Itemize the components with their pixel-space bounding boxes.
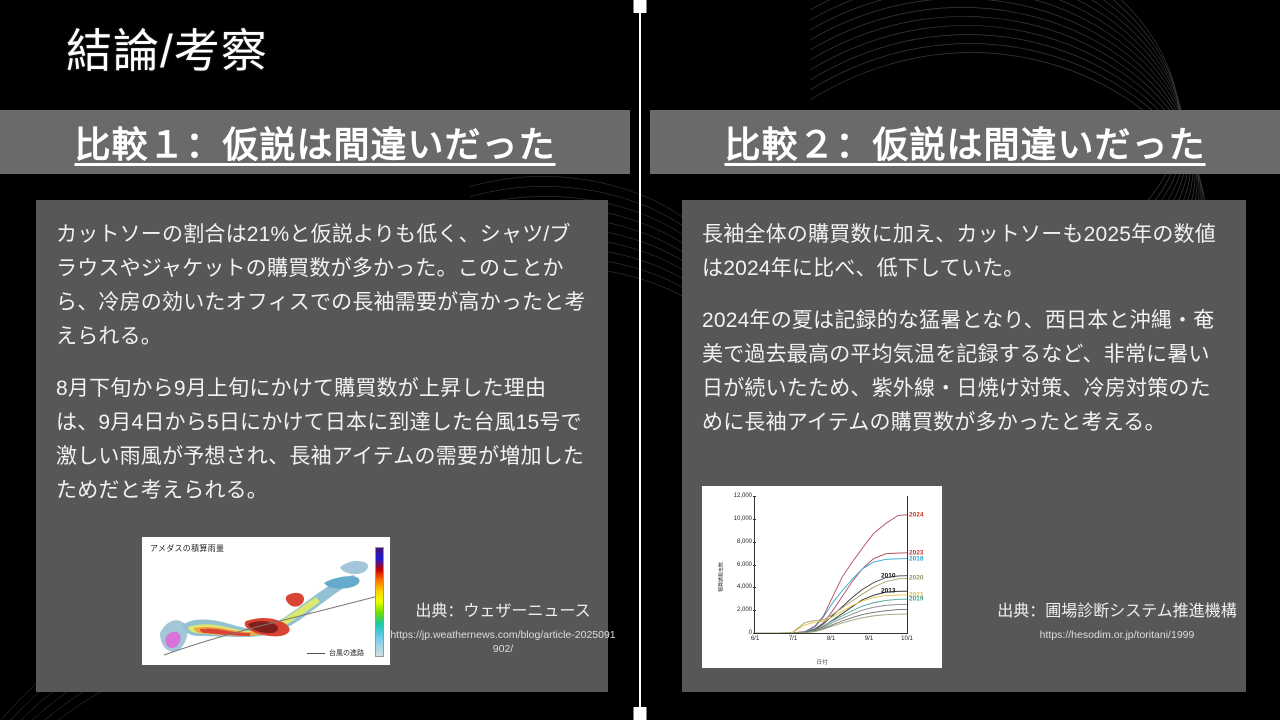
divider-handle-bottom[interactable] bbox=[634, 707, 647, 720]
typhoon-track-line-icon bbox=[307, 653, 325, 654]
left-source-caption: 出典：ウェザーニュース https://jp.weathernews.com/b… bbox=[390, 602, 616, 657]
right-paragraph-1: 長袖全体の購買数に加え、カットソーも2025年の数値は2024年に比べ、低下して… bbox=[702, 218, 1226, 286]
rainfall-map-title: アメダスの積算雨量 bbox=[150, 543, 224, 554]
chart-y-tick: 12,000 bbox=[734, 493, 752, 499]
chart-x-tick: 7/1 bbox=[789, 636, 797, 642]
chart-x-tick: 8/1 bbox=[827, 636, 835, 642]
left-source-url[interactable]: https://jp.weathernews.com/blog/article-… bbox=[390, 628, 616, 657]
right-body-text: 長袖全体の購買数に加え、カットソーも2025年の数値は2024年に比べ、低下して… bbox=[682, 200, 1246, 440]
line-chart: 積算誘殺虫数 日付 02,0004,0006,0008,00010,00012,… bbox=[702, 486, 942, 668]
left-paragraph-2: 8月下旬から9月上旬にかけて購買数が上昇した理由は、9月4日から5日にかけて日本… bbox=[56, 372, 588, 508]
chart-series-label-2024: 2024 bbox=[909, 511, 923, 518]
chart-x-axis-label: 日付 bbox=[702, 658, 942, 666]
chart-series-label-2018: 2018 bbox=[909, 555, 923, 562]
right-header-title: 比較２：仮説は間違いだった bbox=[724, 116, 1205, 168]
chart-x-tick: 9/1 bbox=[865, 636, 873, 642]
slide-divider-guide[interactable] bbox=[639, 0, 641, 720]
chart-y-tick: 8,000 bbox=[737, 539, 752, 545]
rainfall-map-legend: 台風の進路 bbox=[307, 648, 364, 658]
japan-rainfall-map-icon bbox=[142, 537, 390, 665]
right-paragraph-2: 2024年の夏は記録的な猛暑となり、西日本と沖縄・奄美で過去最高の平均気温を記録… bbox=[702, 304, 1226, 440]
page-title: 結論/考察 bbox=[66, 26, 268, 77]
chart-y-tick: 6,000 bbox=[737, 562, 752, 568]
left-header-band: 比較１：仮説は間違いだった bbox=[0, 110, 630, 174]
rainfall-map-frame: アメダスの積算雨量 台風の進路 bbox=[142, 537, 390, 665]
chart-plot-area: 02,0004,0006,0008,00010,00012,0006/17/18… bbox=[754, 496, 908, 634]
left-source-label: 出典：ウェザーニュース bbox=[390, 602, 616, 623]
chart-line-2010 bbox=[755, 576, 907, 633]
right-header-band: 比較２：仮説は間違いだった bbox=[650, 110, 1280, 174]
chart-series-label-2020: 2020 bbox=[909, 575, 923, 582]
chart-frame: 積算誘殺虫数 日付 02,0004,0006,0008,00010,00012,… bbox=[702, 486, 942, 668]
chart-y-tick: 2,000 bbox=[737, 607, 752, 613]
left-header-title: 比較１：仮説は間違いだった bbox=[74, 116, 555, 168]
right-source-url[interactable]: https://hesodim.or.jp/toritani/1999 bbox=[990, 628, 1244, 643]
chart-series-layer bbox=[755, 496, 907, 633]
slide-root: 結論/考察 比較１：仮説は間違いだった 比較２：仮説は間違いだった カットソーの… bbox=[0, 0, 1280, 720]
rainfall-colorbar bbox=[375, 547, 384, 657]
right-source-caption: 出典：圃場診断システム推進機構 https://hesodim.or.jp/to… bbox=[990, 602, 1244, 642]
right-source-label: 出典：圃場診断システム推進機構 bbox=[990, 602, 1244, 623]
chart-series-label-2010: 2010 bbox=[881, 572, 895, 579]
rainfall-map-figure: アメダスの積算雨量 台風の進路 bbox=[142, 537, 390, 665]
chart-series-label-2019: 2019 bbox=[909, 596, 923, 603]
rainfall-map-image: アメダスの積算雨量 台風の進路 bbox=[142, 537, 390, 665]
chart-series-label-2013: 2013 bbox=[881, 588, 895, 595]
chart-x-tick: 6/1 bbox=[751, 636, 759, 642]
rainfall-map-legend-label: 台風の進路 bbox=[329, 648, 364, 658]
left-paragraph-1: カットソーの割合は21%と仮説よりも低く、シャツ/ブラウスやジャケットの購買数が… bbox=[56, 218, 588, 354]
chart-y-axis-label: 積算誘殺虫数 bbox=[718, 562, 725, 592]
chart-x-tick: 10/1 bbox=[901, 636, 913, 642]
chart-y-tick: 10,000 bbox=[734, 516, 752, 522]
divider-handle-top[interactable] bbox=[634, 0, 647, 13]
chart-line-other-a bbox=[755, 604, 907, 633]
cumulative-trap-chart-figure: 積算誘殺虫数 日付 02,0004,0006,0008,00010,00012,… bbox=[702, 486, 942, 668]
chart-line-2019 bbox=[755, 599, 907, 633]
left-body-text: カットソーの割合は21%と仮説よりも低く、シャツ/ブラウスやジャケットの購買数が… bbox=[36, 200, 608, 508]
chart-y-tick: 4,000 bbox=[737, 584, 752, 590]
